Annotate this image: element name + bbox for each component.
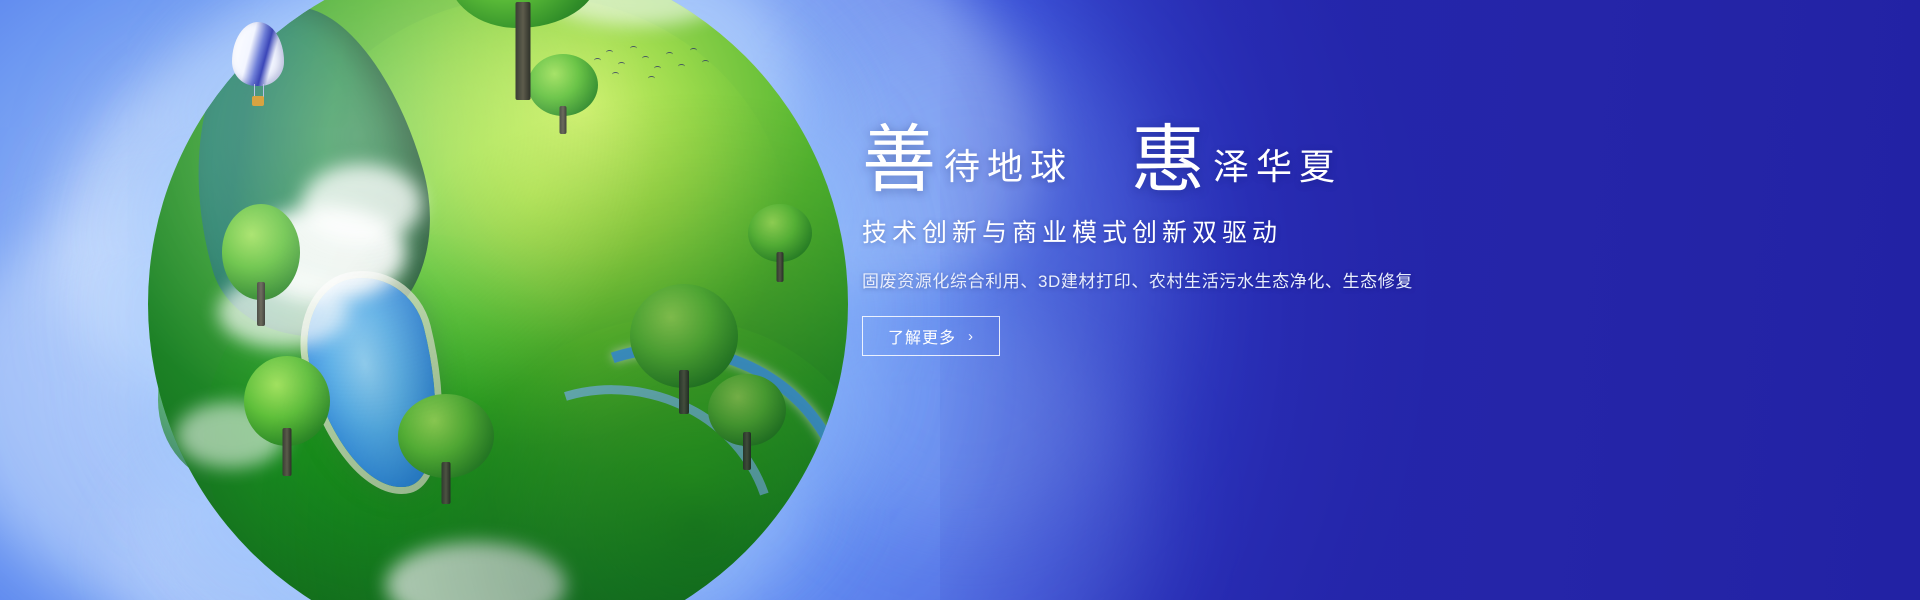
page-title: 善 待地球 惠 泽华夏	[862, 128, 1562, 193]
description-text: 固废资源化综合利用、3D建材打印、农村生活污水生态净化、生态修复	[862, 267, 1562, 292]
mountain-ridge	[149, 0, 461, 365]
cloud	[246, 206, 406, 301]
hot-air-balloon-icon	[232, 22, 284, 114]
learn-more-button[interactable]: 了解更多 ›	[862, 316, 1000, 356]
tree	[630, 284, 738, 414]
chevron-right-icon: ›	[968, 328, 974, 345]
subtitle: 技术创新与商业模式创新双驱动	[862, 213, 1562, 249]
hero-banner: 善 待地球 惠 泽华夏 技术创新与商业模式创新双驱动 固废资源化综合利用、3D建…	[0, 0, 1920, 600]
hero-content: 善 待地球 惠 泽华夏 技术创新与商业模式创新双驱动 固废资源化综合利用、3D建…	[862, 128, 1562, 356]
cloud	[176, 402, 286, 468]
cloud	[302, 164, 422, 244]
tree	[398, 394, 494, 504]
cloud	[386, 542, 566, 600]
tree	[222, 204, 300, 324]
tree	[708, 374, 786, 470]
headline-phrase-1: 善 待地球	[862, 128, 1073, 193]
river	[471, 284, 848, 600]
tree	[748, 204, 812, 282]
cloud	[218, 276, 348, 348]
headline-phrase-2: 惠 泽华夏	[1131, 128, 1342, 193]
headline-char-large: 善	[862, 128, 936, 193]
lake	[292, 265, 460, 503]
grass-texture	[204, 234, 638, 600]
headline-text-small: 待地球	[936, 150, 1073, 193]
headline-char-large: 惠	[1131, 128, 1205, 193]
bird-flock-icon	[590, 42, 720, 92]
river	[431, 329, 827, 600]
tree	[244, 356, 330, 476]
headline-text-small: 泽华夏	[1205, 150, 1342, 193]
tree-large	[448, 0, 598, 96]
learn-more-label: 了解更多	[888, 324, 956, 348]
